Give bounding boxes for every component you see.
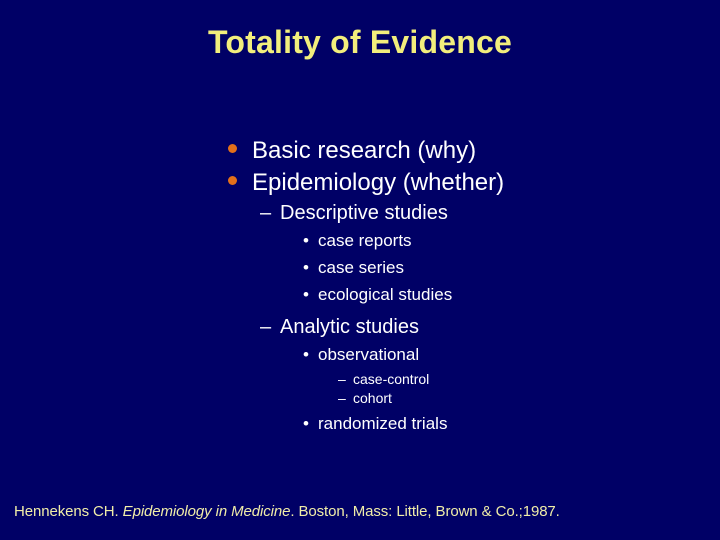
- list-item: • observational: [0, 343, 720, 370]
- citation: Hennekens CH. Epidemiology in Medicine. …: [14, 503, 560, 520]
- bullet-point-icon: •: [303, 412, 318, 436]
- bullet-dot-icon: [228, 140, 252, 158]
- list-item: – Analytic studies: [0, 314, 720, 343]
- citation-publication: . Boston, Mass: Little, Brown & Co.;1987…: [290, 503, 559, 520]
- list-item-label: Descriptive studies: [280, 200, 448, 226]
- dash-marker-icon: –: [338, 389, 353, 407]
- bullet-point-icon: •: [303, 283, 318, 307]
- list-item: • case series: [0, 256, 720, 283]
- list-item: Epidemiology (whether): [0, 168, 720, 200]
- list-item-label: Basic research (why): [252, 136, 476, 166]
- list-item-label: case-control: [353, 370, 429, 388]
- list-item: Basic research (why): [0, 136, 720, 168]
- list-item: • ecological studies: [0, 283, 720, 310]
- dash-marker-icon: –: [260, 200, 280, 226]
- list-item: – Descriptive studies: [0, 200, 720, 229]
- outline-list: Basic research (why) Epidemiology (wheth…: [0, 136, 720, 439]
- slide-canvas: Totality of Evidence Basic research (why…: [0, 0, 720, 540]
- page-title: Totality of Evidence: [0, 24, 720, 61]
- dash-marker-icon: –: [338, 370, 353, 388]
- list-item-label: case reports: [318, 229, 412, 253]
- bullet-point-icon: •: [303, 256, 318, 280]
- dash-marker-icon: –: [260, 314, 280, 340]
- list-item-label: randomized trials: [318, 412, 447, 436]
- list-item-label: case series: [318, 256, 404, 280]
- list-item-label: ecological studies: [318, 283, 452, 307]
- bullet-dot-icon: [228, 172, 252, 190]
- citation-source-title: Epidemiology in Medicine: [123, 503, 291, 520]
- citation-author: Hennekens CH.: [14, 503, 119, 520]
- list-item-label: observational: [318, 343, 419, 367]
- bullet-point-icon: •: [303, 343, 318, 367]
- bullet-point-icon: •: [303, 229, 318, 253]
- list-item: – case-control: [0, 370, 720, 389]
- list-item-label: Epidemiology (whether): [252, 168, 504, 198]
- list-item: – cohort: [0, 389, 720, 408]
- list-item: • case reports: [0, 229, 720, 256]
- list-item-label: Analytic studies: [280, 314, 419, 340]
- list-item-label: cohort: [353, 389, 392, 407]
- list-item: • randomized trials: [0, 412, 720, 439]
